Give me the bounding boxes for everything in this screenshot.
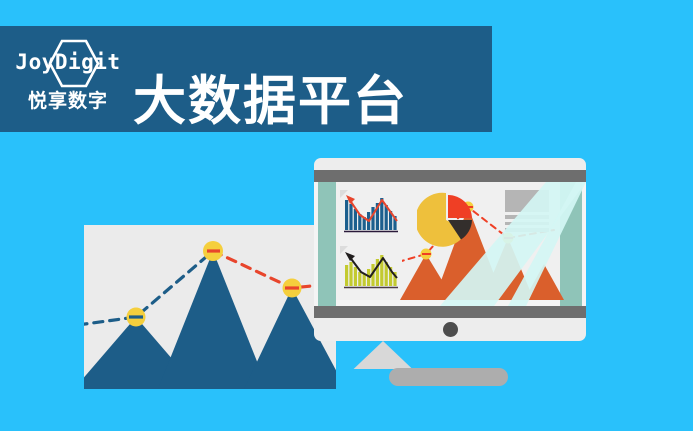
- page-fold-icon: [340, 246, 348, 254]
- pie-slice-red: [448, 195, 472, 218]
- monitor-top-bar: [314, 170, 586, 182]
- monitor-screen: [314, 182, 586, 306]
- mountain-shape-right: [524, 264, 564, 300]
- mountain-shape-large: [158, 251, 268, 389]
- page-title: 大数据平台: [133, 75, 408, 128]
- poster-canvas: JoyDigit 悦享数字 大数据平台: [0, 0, 693, 431]
- header-banner: JoyDigit 悦享数字 大数据平台: [0, 26, 492, 132]
- bar-chart-olive: [340, 246, 402, 293]
- power-indicator[interactable]: [443, 322, 458, 337]
- logo-wordmark: JoyDigit: [14, 52, 122, 73]
- left-area-chart: [84, 225, 336, 389]
- bar-chart-blue: [340, 190, 402, 237]
- left-chart-panel: [84, 225, 336, 389]
- monitor-stand-base: [389, 368, 508, 386]
- bar-chart-card-olive[interactable]: [340, 246, 402, 293]
- monitor: [314, 158, 586, 341]
- monitor-stand-neck: [354, 341, 413, 369]
- logo-subtext: 悦享数字: [14, 92, 122, 111]
- placeholder-line: [505, 215, 549, 219]
- pie-chart[interactable]: [417, 191, 475, 249]
- brand-logo: JoyDigit 悦享数字: [14, 36, 122, 122]
- text-placeholder-block: [505, 190, 549, 234]
- monitor-bottom-bar: [314, 306, 586, 318]
- placeholder-line: [505, 222, 549, 226]
- placeholder-line: [505, 228, 549, 232]
- bar-chart-card-blue[interactable]: [340, 190, 402, 237]
- page-fold-icon: [340, 190, 348, 198]
- placeholder-image: [505, 190, 549, 212]
